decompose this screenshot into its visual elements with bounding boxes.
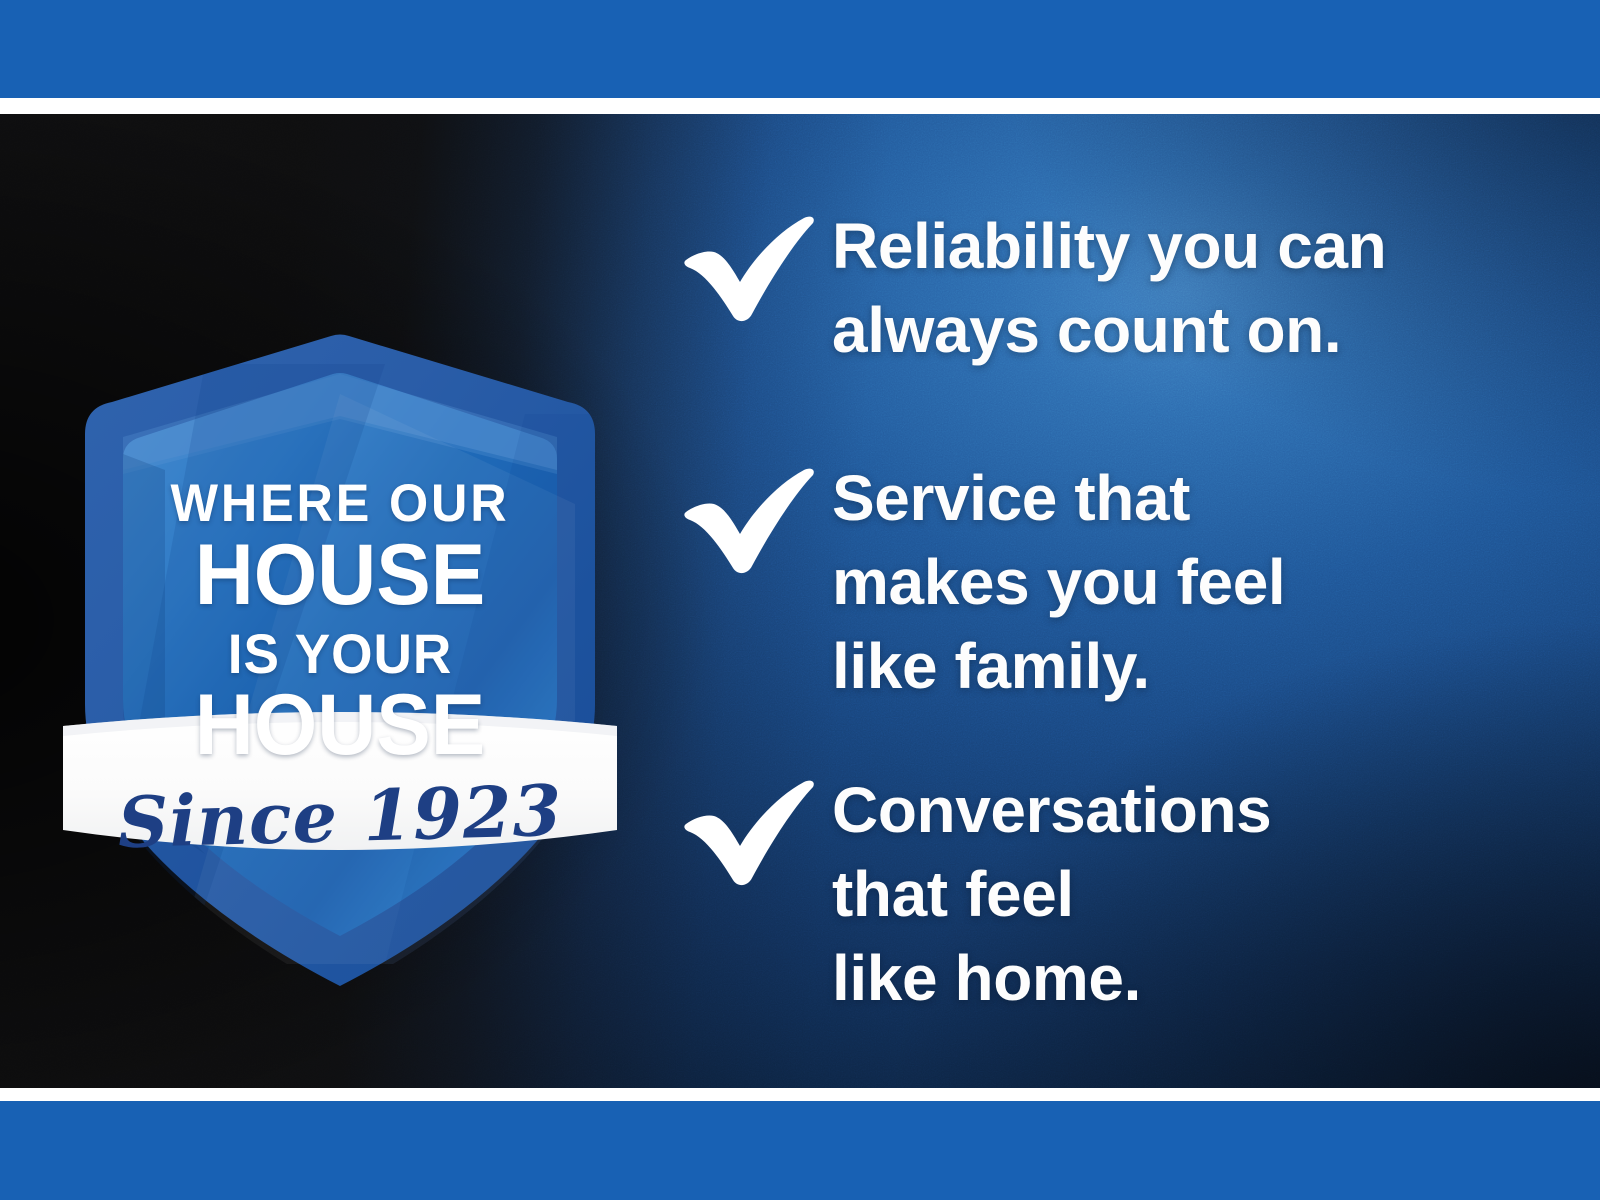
benefit-1-line-2: always count on.	[832, 288, 1532, 372]
ribbon-folds	[63, 721, 85, 834]
bottom-accent-bar	[0, 1101, 1600, 1200]
shield-graphic	[55, 274, 625, 934]
benefit-3-line-2: that feel	[832, 852, 1532, 936]
bottom-white-divider	[0, 1088, 1600, 1101]
content-canvas: WHERE OUR HOUSE IS YOUR HOUSE Since 1923…	[0, 114, 1600, 1088]
benefit-2-line-3: like family.	[832, 624, 1532, 708]
benefit-3-line-1: Conversations	[832, 768, 1532, 852]
top-accent-bar	[0, 0, 1600, 98]
benefit-text-1: Reliability you can always count on.	[832, 204, 1532, 372]
shield-logo: WHERE OUR HOUSE IS YOUR HOUSE Since 1923	[55, 274, 625, 934]
top-white-divider	[0, 98, 1600, 114]
benefit-1-line-1: Reliability you can	[832, 204, 1532, 288]
ribbon-banner	[63, 712, 617, 854]
benefit-3-line-3: like home.	[832, 936, 1532, 1020]
check-icon	[680, 776, 820, 896]
benefit-text-2: Service that makes you feel like family.	[832, 456, 1532, 708]
benefit-text-3: Conversations that feel like home.	[832, 768, 1532, 1020]
check-icon	[680, 212, 820, 332]
promo-graphic: WHERE OUR HOUSE IS YOUR HOUSE Since 1923…	[0, 0, 1600, 1200]
check-icon	[680, 464, 820, 584]
benefit-2-line-1: Service that	[832, 456, 1532, 540]
benefit-2-line-2: makes you feel	[832, 540, 1532, 624]
